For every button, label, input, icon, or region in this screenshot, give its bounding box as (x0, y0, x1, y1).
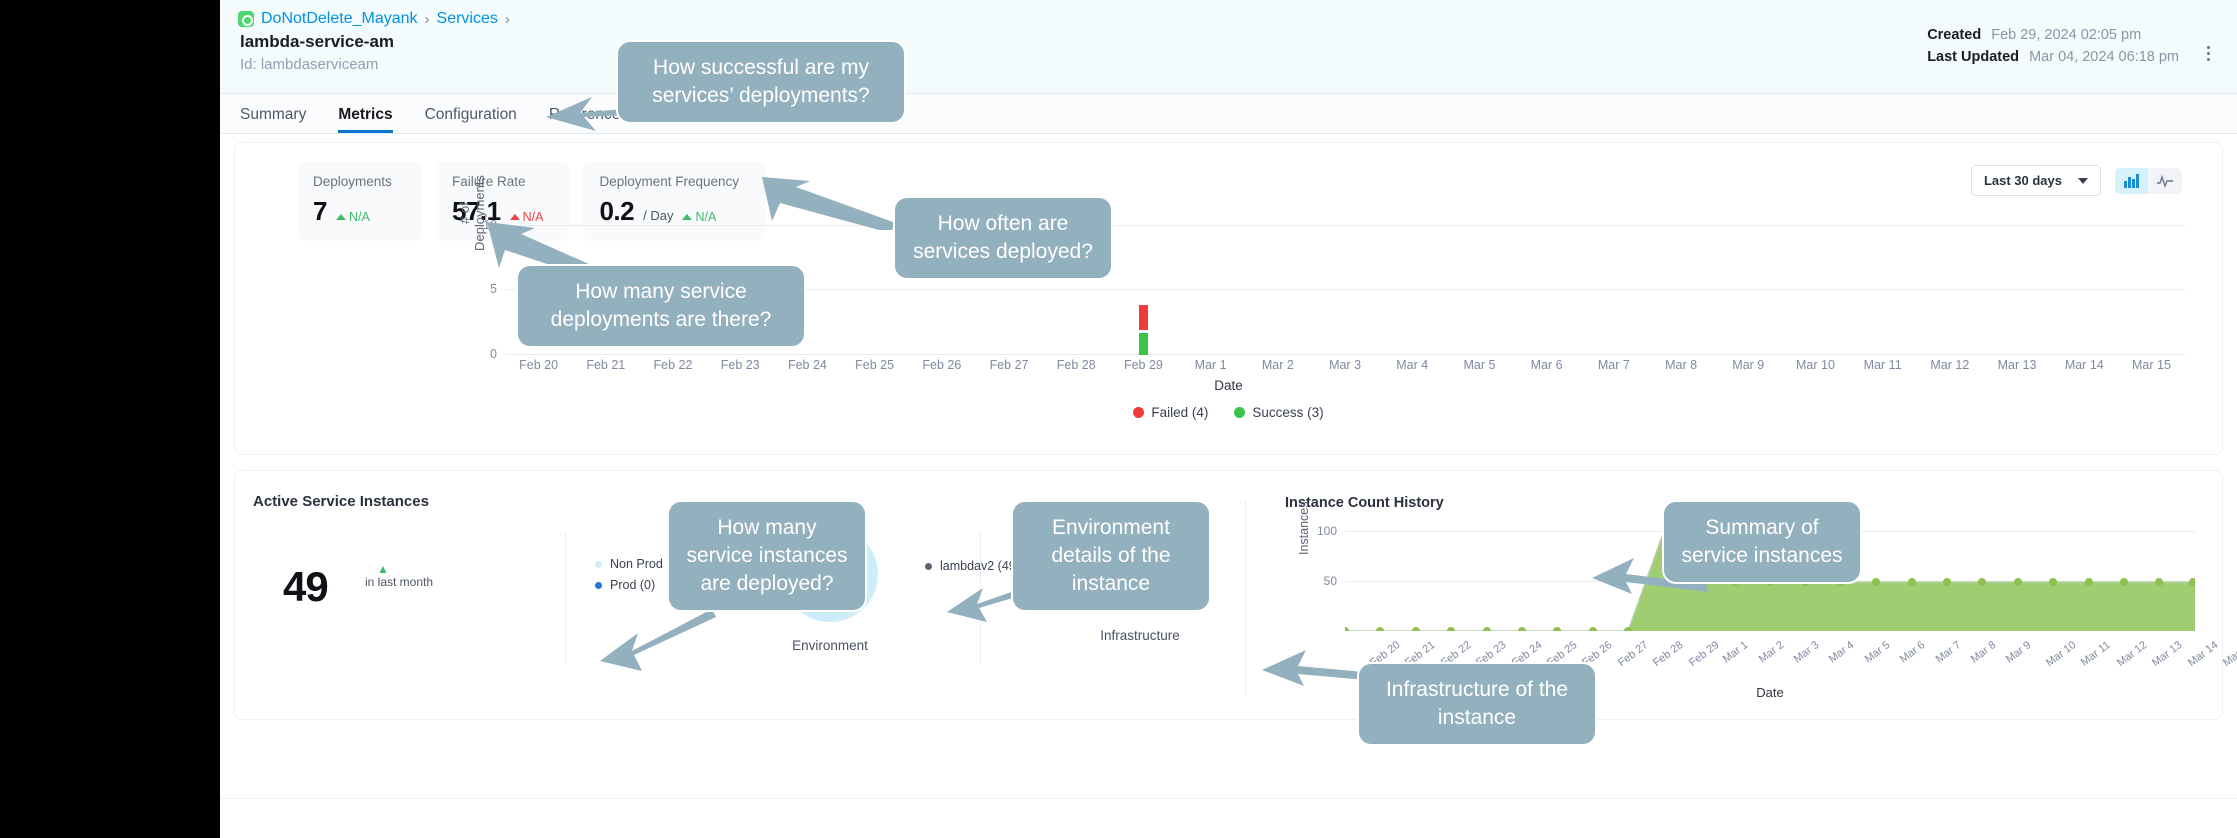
ich-x-tick: Mar 7 (1934, 639, 1964, 666)
ich-x-tick: Mar 13 (2150, 639, 2185, 669)
x-tick: Mar 9 (1715, 358, 1782, 378)
instance-count-y-axis-label: Instances (1297, 501, 1311, 555)
x-tick: Feb 26 (908, 358, 975, 378)
ich-x-tick: Mar 6 (1898, 639, 1928, 666)
more-options-icon[interactable] (2199, 40, 2217, 66)
tab-configuration[interactable]: Configuration (425, 106, 517, 133)
bar-slot-feb29[interactable] (1110, 225, 1177, 355)
y-tick-0: 0 (490, 347, 497, 361)
ich-x-tick: Mar 15 (2221, 639, 2237, 669)
chart-view-toggle (2115, 168, 2182, 194)
x-tick: Mar 14 (2051, 358, 2118, 378)
ich-x-tick: Feb 27 (1616, 639, 1651, 669)
org-badge-icon (238, 11, 254, 27)
ich-x-tick: Mar 12 (2115, 639, 2150, 669)
x-tick: Mar 8 (1647, 358, 1714, 378)
environment-chart-label: Environment (705, 638, 955, 653)
created-value: Feb 29, 2024 02:05 pm (1991, 27, 2141, 43)
x-tick: Feb 24 (774, 358, 841, 378)
active-instance-count: 49 (283, 563, 328, 611)
stat-delta-deployments: N/A (336, 210, 370, 224)
y-tick-5: 5 (490, 282, 497, 296)
callout-arrow-instances-deployed (598, 605, 718, 675)
bar-slot (1177, 225, 1244, 355)
callout-infrastructure-details: Infrastructure of the instance (1357, 662, 1597, 746)
date-range-value: Last 30 days (1984, 173, 2062, 188)
x-tick: Feb 21 (572, 358, 639, 378)
stat-value-deployments: 7 (313, 196, 327, 227)
bar-slot (1782, 225, 1849, 355)
date-range-select[interactable]: Last 30 days (1971, 165, 2101, 196)
bar-slot (1513, 225, 1580, 355)
last-updated-row: Last Updated Mar 04, 2024 06:18 pm (1927, 46, 2179, 68)
chevron-down-icon (2078, 178, 2088, 184)
ich-x-tick: Mar 4 (1827, 639, 1857, 666)
created-row: Created Feb 29, 2024 02:05 pm (1927, 24, 2179, 46)
stat-delta-text-deployments: N/A (349, 210, 370, 224)
stat-delta-deployment-frequency: N/A (682, 210, 716, 224)
bar-slot (2118, 225, 2185, 355)
legend-label-failed: Failed (4) (1151, 405, 1208, 420)
caret-up-icon (336, 214, 346, 220)
bar-slot (1446, 225, 1513, 355)
bar-slot (1916, 225, 1983, 355)
x-tick: Mar 6 (1513, 358, 1580, 378)
x-tick: Mar 10 (1782, 358, 1849, 378)
last-updated-value: Mar 04, 2024 06:18 pm (2029, 49, 2179, 65)
deployments-y-axis-label: # of Deployments (457, 173, 487, 253)
deployments-legend: Failed (4) Success (3) (235, 405, 2222, 420)
tab-metrics[interactable]: Metrics (338, 106, 392, 133)
instance-trend: ▲ in last month (365, 564, 433, 589)
bar-slot (1311, 225, 1378, 355)
ich-x-tick: Mar 3 (1792, 639, 1822, 666)
deployments-x-axis-title: Date (235, 378, 2222, 393)
legend-dot-success (1234, 407, 1245, 418)
section-title-active-instances: Active Service Instances (253, 493, 429, 510)
x-tick: Feb 22 (639, 358, 706, 378)
legend-item-failed[interactable]: Failed (4) (1133, 405, 1208, 420)
callout-environment-details: Environment details of the instance (1011, 500, 1211, 612)
x-tick: Mar 5 (1446, 358, 1513, 378)
callout-instances-summary: Summary of service instances (1662, 500, 1862, 584)
bar-slot (1244, 225, 1311, 355)
ich-x-tick: Mar 9 (2004, 639, 2034, 666)
x-tick: Mar 3 (1311, 358, 1378, 378)
ich-x-tick: Mar 5 (1863, 639, 1893, 666)
x-tick: Feb 23 (707, 358, 774, 378)
x-tick: Feb 28 (1043, 358, 1110, 378)
service-metrics-page: DoNotDelete_Mayank › Services › lambda-s… (220, 0, 2237, 838)
bar-slot (1647, 225, 1714, 355)
x-tick: Mar 4 (1379, 358, 1446, 378)
ich-x-tick: Mar 2 (1757, 639, 1787, 666)
x-tick: Mar 1 (1177, 358, 1244, 378)
ich-x-tick: Mar 1 (1721, 639, 1751, 666)
bar-slot (1849, 225, 1916, 355)
x-tick: Feb 29 (1110, 358, 1177, 378)
bar-slot (1379, 225, 1446, 355)
callout-instances-deployed: How many service instances are deployed? (667, 500, 867, 612)
divider-3 (1245, 501, 1246, 696)
ich-y-tick-50: 50 (1324, 574, 1337, 588)
ich-x-tick: Mar 8 (1969, 639, 1999, 666)
tab-summary[interactable]: Summary (240, 106, 306, 133)
breadcrumb-services-link[interactable]: Services (437, 10, 498, 28)
x-tick: Mar 13 (1983, 358, 2050, 378)
stat-label-deployment-frequency: Deployment Frequency (599, 174, 739, 189)
stat-label-deployments: Deployments (313, 174, 396, 189)
up-arrow-icon: ▲ (377, 564, 433, 575)
x-tick: Mar 7 (1580, 358, 1647, 378)
caret-up-icon-green (682, 214, 692, 220)
last-updated-label: Last Updated (1927, 49, 2019, 65)
breadcrumb: DoNotDelete_Mayank › Services › (238, 10, 510, 28)
ich-x-tick: Mar 11 (2079, 639, 2113, 669)
callout-deployment-count: How many service deployments are there? (516, 264, 806, 348)
ich-x-tick: Mar 14 (2186, 639, 2221, 669)
legend-dot-failed (1133, 407, 1144, 418)
divider (565, 533, 566, 663)
ich-x-tick: Feb 29 (1687, 639, 1722, 669)
legend-item-success[interactable]: Success (3) (1234, 405, 1323, 420)
x-tick: Mar 11 (1849, 358, 1916, 378)
line-chart-icon[interactable] (2148, 168, 2182, 194)
bar-slot (1580, 225, 1647, 355)
legend-dot-lambdav2 (925, 563, 932, 570)
breadcrumb-separator-icon: › (425, 11, 430, 28)
callout-deployment-frequency: How often are services deployed? (893, 196, 1113, 280)
x-tick: Mar 2 (1244, 358, 1311, 378)
x-tick: Feb 25 (841, 358, 908, 378)
ich-x-tick: Feb 28 (1651, 639, 1686, 669)
legend-label-prod: Prod (0) (610, 578, 655, 592)
stat-delta-text-deployment-frequency: N/A (695, 210, 716, 224)
x-tick: Mar 12 (1916, 358, 1983, 378)
deployments-x-axis: Feb 20 Feb 21 Feb 22 Feb 23 Feb 24 Feb 2… (505, 358, 2185, 378)
page-header: DoNotDelete_Mayank › Services › lambda-s… (220, 0, 2237, 94)
stat-card-deployments: Deployments 7 N/A (297, 162, 422, 241)
ich-y-tick-100: 100 (1317, 524, 1337, 538)
chart-controls: Last 30 days (1971, 165, 2182, 196)
breadcrumb-separator-icon-2: › (505, 11, 510, 28)
callout-arrow-deployment-frequency (760, 175, 900, 230)
instance-trend-note: in last month (365, 575, 433, 589)
bar-segment-failed[interactable] (1139, 305, 1148, 330)
instances-panel: Active Service Instances 49 ▲ in last mo… (234, 470, 2223, 720)
page-title: lambda-service-am (240, 32, 394, 52)
x-tick: Feb 20 (505, 358, 572, 378)
callout-deployments-success: How successful are my services’ deployme… (616, 40, 906, 124)
bar-segment-success[interactable] (1139, 333, 1148, 355)
x-tick: Feb 27 (975, 358, 1042, 378)
x-tick: Mar 15 (2118, 358, 2185, 378)
bar-slot (1983, 225, 2050, 355)
tab-bar: Summary Metrics Configuration Referenced (220, 94, 2237, 134)
footer-strip (220, 798, 2237, 838)
breadcrumb-org-link[interactable]: DoNotDelete_Mayank (261, 10, 418, 28)
ich-x-tick: Mar 10 (2044, 639, 2079, 669)
header-meta: Created Feb 29, 2024 02:05 pm Last Updat… (1927, 24, 2179, 68)
legend-dot-non-prod (595, 561, 602, 568)
infrastructure-chart-label: Infrastructure (1015, 628, 1265, 643)
service-id-label: Id: lambdaserviceam (240, 56, 378, 73)
bar-chart-icon[interactable] (2115, 168, 2148, 194)
legend-dot-prod (595, 582, 602, 589)
bar-slot (2051, 225, 2118, 355)
legend-label-success: Success (3) (1252, 405, 1323, 420)
stat-unit-deployment-frequency: / Day (643, 208, 673, 223)
bar-slot (1715, 225, 1782, 355)
created-label: Created (1927, 27, 1981, 43)
